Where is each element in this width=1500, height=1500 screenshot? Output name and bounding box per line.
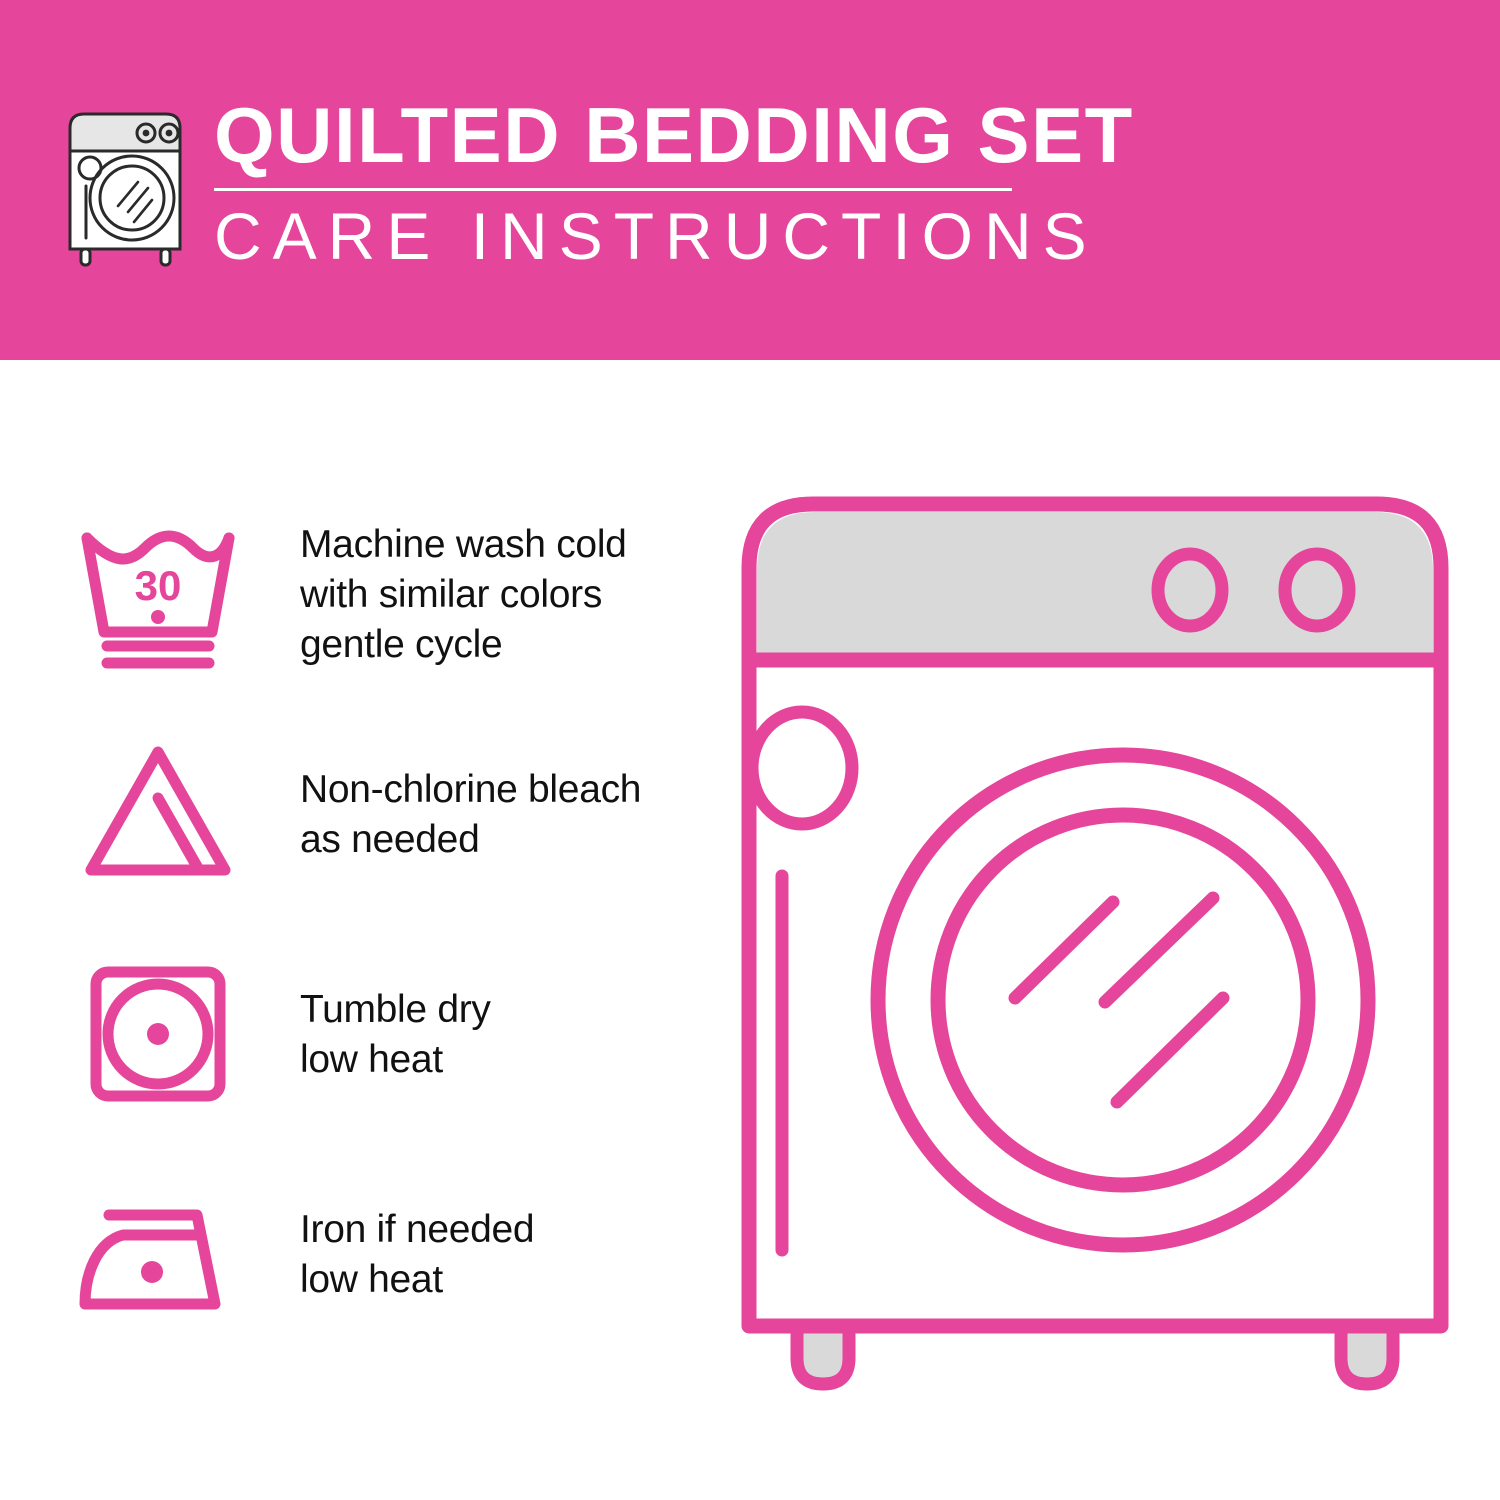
header-title-block: QUILTED BEDDING SET CARE INSTRUCTIONS bbox=[214, 96, 1134, 269]
main-content: 30 Machine wash cold with similar colors… bbox=[0, 360, 1500, 1500]
care-label: Tumble dry low heat bbox=[300, 985, 491, 1085]
care-label-line: as needed bbox=[300, 815, 641, 865]
care-label-line: Iron if needed bbox=[300, 1205, 534, 1255]
page-subtitle: CARE INSTRUCTIONS bbox=[214, 203, 1134, 269]
front-load-washing-machine-illustration bbox=[735, 490, 1455, 1440]
care-label-line: Non-chlorine bleach bbox=[300, 765, 641, 815]
washing-machine-icon bbox=[62, 106, 192, 271]
wash-temperature-value: 30 bbox=[134, 562, 181, 609]
wash-tub-30-icon: 30 bbox=[70, 520, 245, 670]
bleach-triangle-icon bbox=[70, 740, 245, 890]
care-label: Machine wash cold with similar colors ge… bbox=[300, 520, 627, 670]
list-item: Iron if needed low heat bbox=[70, 1170, 710, 1340]
care-label: Non-chlorine bleach as needed bbox=[300, 765, 641, 865]
care-label-line: gentle cycle bbox=[300, 620, 627, 670]
tumble-dry-low-icon bbox=[70, 960, 245, 1110]
header-content: QUILTED BEDDING SET CARE INSTRUCTIONS bbox=[62, 96, 1134, 271]
iron-low-heat-icon bbox=[70, 1180, 245, 1330]
care-label: Iron if needed low heat bbox=[300, 1205, 534, 1305]
list-item: 30 Machine wash cold with similar colors… bbox=[70, 510, 710, 680]
care-label-line: with similar colors bbox=[300, 570, 627, 620]
care-instruction-list: 30 Machine wash cold with similar colors… bbox=[70, 510, 710, 1390]
title-divider bbox=[214, 188, 1012, 191]
page-title: QUILTED BEDDING SET bbox=[214, 96, 1134, 174]
care-label-line: Tumble dry bbox=[300, 985, 491, 1035]
list-item: Tumble dry low heat bbox=[70, 950, 710, 1120]
list-item: Non-chlorine bleach as needed bbox=[70, 730, 710, 900]
care-label-line: low heat bbox=[300, 1255, 534, 1305]
care-label-line: low heat bbox=[300, 1035, 491, 1085]
care-label-line: Machine wash cold bbox=[300, 520, 627, 570]
header-banner: QUILTED BEDDING SET CARE INSTRUCTIONS bbox=[0, 0, 1500, 360]
